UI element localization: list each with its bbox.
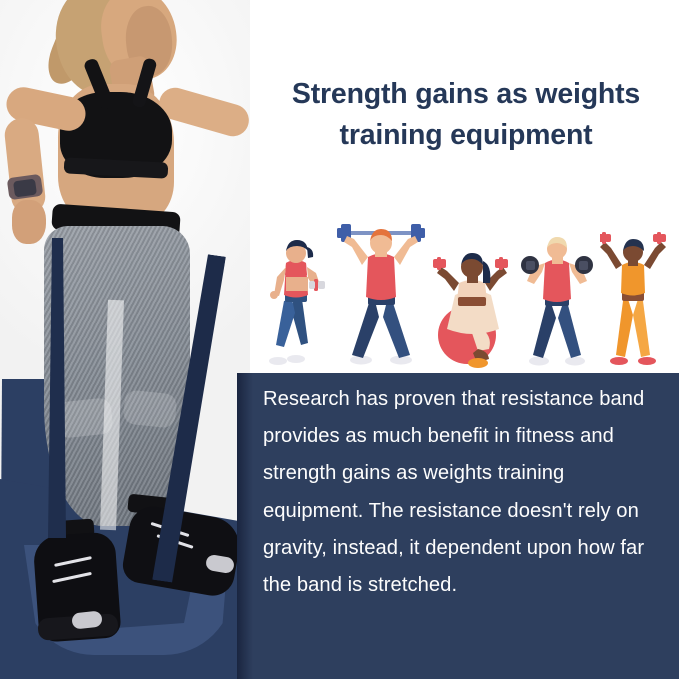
page-title: Strength gains as weights training equip…	[258, 74, 674, 157]
panel-left-shadow	[237, 373, 253, 679]
model-wristwatch-face	[13, 179, 37, 198]
figure-shoulder-press-person	[520, 227, 594, 374]
description-panel: Research has proven that resistance band…	[237, 373, 679, 679]
model-right-knee-highlight	[122, 389, 177, 428]
content-column: Strength gains as weights training equip…	[250, 0, 679, 679]
model-left-hand	[12, 200, 46, 244]
product-photo	[0, 0, 250, 679]
figure-arms-raised-woman	[600, 223, 666, 374]
figure-2-svg	[335, 223, 427, 369]
figure-5-svg	[600, 223, 666, 369]
exercise-figures-row	[254, 222, 678, 374]
figure-3-svg	[433, 231, 513, 369]
figure-dumbbell-curl-woman	[266, 237, 328, 374]
figure-ball-dumbbell-woman	[433, 231, 513, 374]
figure-1-svg	[266, 237, 328, 369]
model-figure	[0, 0, 250, 679]
description-text: Research has proven that resistance band…	[263, 381, 667, 604]
figure-barbell-overhead-man	[335, 223, 427, 374]
figure-4-svg	[520, 227, 594, 369]
product-banner: Strength gains as weights training equip…	[0, 0, 679, 679]
